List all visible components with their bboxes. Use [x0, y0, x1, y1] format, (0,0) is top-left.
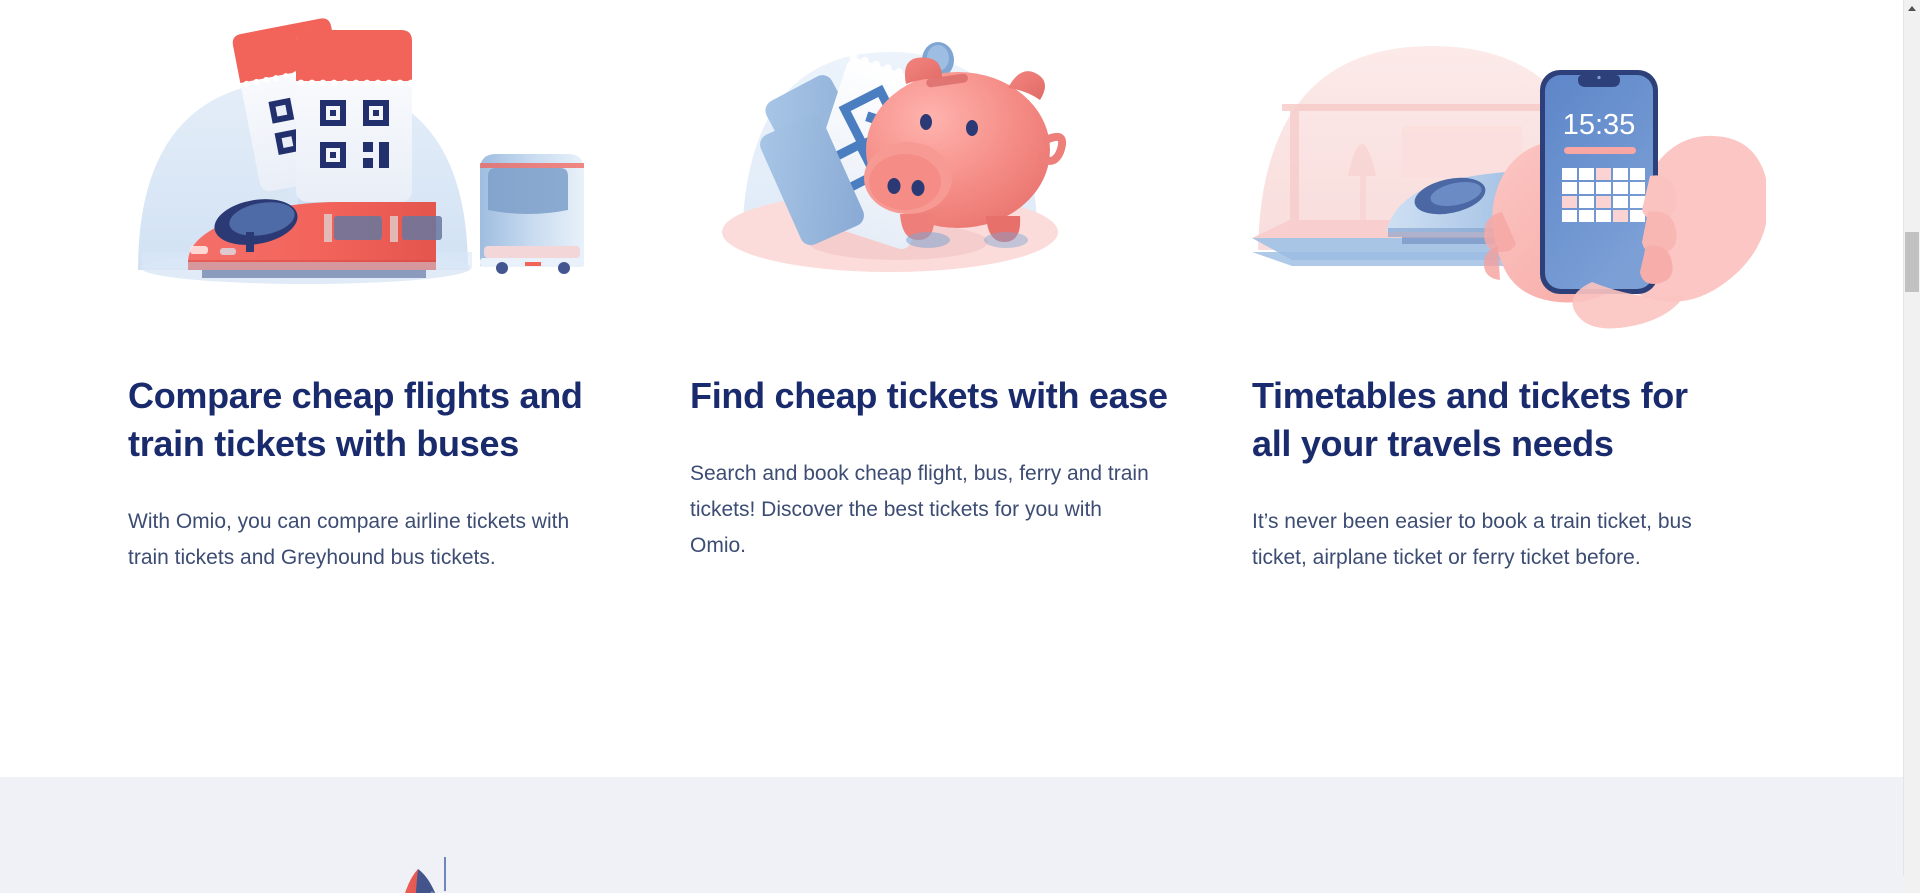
vertical-scrollbar[interactable] [1903, 0, 1920, 893]
bus-shape [480, 154, 584, 274]
feature-card-2: Find cheap tickets with ease Search and … [690, 0, 1204, 576]
feature-card-1: Compare cheap flights and train tickets … [128, 0, 642, 576]
feature-body: It’s never been easier to book a train t… [1252, 504, 1722, 576]
phone-shape: 15:35 [1540, 70, 1658, 294]
feature-body: With Omio, you can compare airline ticke… [128, 504, 598, 576]
feature-heading: Timetables and tickets for all your trav… [1252, 372, 1732, 468]
chevron-up-icon [1908, 6, 1916, 11]
scrollbar-corner [1903, 876, 1920, 893]
features-section: Compare cheap flights and train tickets … [0, 0, 1903, 777]
page-viewport: Compare cheap flights and train tickets … [0, 0, 1903, 893]
feature-heading: Find cheap tickets with ease [690, 372, 1170, 420]
phone-timetable-illustration: 15:35 [1252, 0, 1766, 372]
piggy-bank-with-tickets-illustration [690, 0, 1204, 372]
train-and-bus-tickets-illustration [128, 0, 642, 372]
scrollbar-thumb[interactable] [1905, 232, 1919, 292]
next-section [0, 777, 1903, 893]
feature-card-3: 15:35 [1252, 0, 1766, 576]
scrollbar-up-button[interactable] [1904, 0, 1920, 17]
page-root: Compare cheap flights and train tickets … [0, 0, 1920, 893]
feature-body: Search and book cheap flight, bus, ferry… [690, 456, 1160, 564]
globe-illustration [390, 857, 590, 893]
features-columns: Compare cheap flights and train tickets … [128, 0, 1768, 576]
feature-heading: Compare cheap flights and train tickets … [128, 372, 608, 468]
phone-clock-label: 15:35 [1563, 109, 1636, 141]
